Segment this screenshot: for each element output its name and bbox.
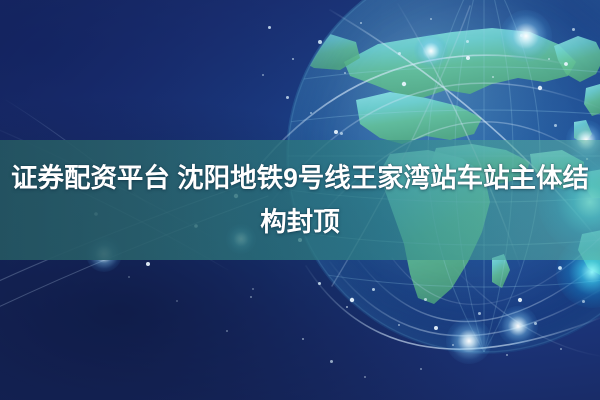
caption-line-1: 证券配资平台 沈阳地铁9号线王家湾站车站主体结 [11, 156, 589, 200]
banner-image: 证券配资平台 沈阳地铁9号线王家湾站车站主体结 构封顶 [0, 0, 600, 400]
caption-line-2: 构封顶 [260, 200, 339, 244]
caption-text: 证券配资平台 沈阳地铁9号线王家湾站车站主体结 构封顶 [0, 140, 600, 260]
